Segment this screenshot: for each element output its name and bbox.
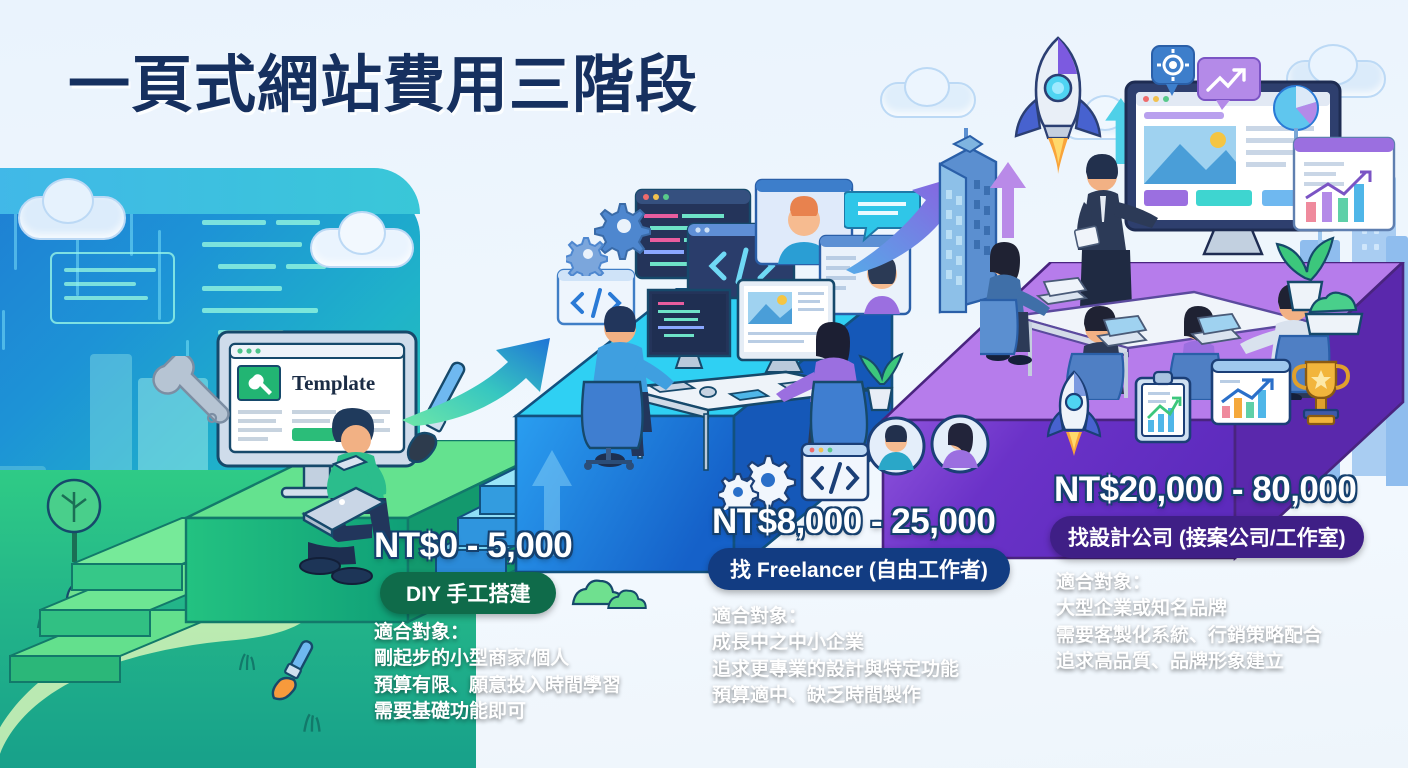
audience-agency: 適合對象： 大型企業或知名品牌 需要客製化系統、行銷策略配合 追求高品質、品牌形… [1056, 570, 1322, 676]
rocket-icon [1046, 368, 1102, 460]
price-label-agency: NT$20,000 - 80,000 [1054, 470, 1356, 510]
trophy-icon [1288, 356, 1354, 430]
audience-line: 追求更專業的設計與特定功能 [712, 657, 959, 682]
audience-heading-freelancer: 適合對象： [712, 604, 959, 629]
audience-diy: 適合對象： 剛起步的小型商家/個人 預算有限、願意投入時間學習 需要基礎功能即可 [374, 620, 621, 726]
infographic-canvas: Template [0, 0, 1408, 768]
code-window-icon [800, 442, 870, 504]
cloud-icon [310, 228, 414, 268]
audience-line: 成長中之中小企業 [712, 630, 959, 655]
audience-line: 預算有限、願意投入時間學習 [374, 673, 621, 698]
audience-line: 剛起步的小型商家/個人 [374, 646, 621, 671]
badge-freelancer: 找 Freelancer (自由工作者) [708, 548, 1010, 590]
cloud-icon [880, 82, 976, 118]
audience-line: 大型企業或知名品牌 [1056, 596, 1322, 621]
avatar-female-icon [930, 414, 990, 474]
badge-agency: 找設計公司 (接案公司/工作室) [1050, 516, 1364, 558]
audience-line: 預算適中、缺乏時間製作 [712, 683, 959, 708]
audience-heading-agency: 適合對象： [1056, 570, 1322, 595]
audience-line: 需要客製化系統、行銷策略配合 [1056, 623, 1322, 648]
avatar-male-icon [866, 416, 926, 476]
audience-line: 追求高品質、品牌形象建立 [1056, 649, 1322, 674]
cloud-icon [18, 196, 126, 240]
svg-text:Template: Template [292, 371, 375, 395]
audience-freelancer: 適合對象： 成長中之中小企業 追求更專業的設計與特定功能 預算適中、缺乏時間製作 [712, 604, 959, 710]
audience-line: 需要基礎功能即可 [374, 699, 621, 724]
clipboard-chart-icon [1132, 370, 1194, 446]
growth-chart-icon [1210, 358, 1292, 430]
page-title: 一頁式網站費用三階段 [68, 34, 698, 124]
price-label-diy: NT$0 - 5,000 [374, 526, 572, 566]
audience-heading-diy: 適合對象： [374, 620, 621, 645]
price-label-freelancer: NT$8,000 - 25,000 [712, 502, 995, 542]
badge-diy: DIY 手工搭建 [380, 572, 556, 614]
grass-tuft [300, 712, 326, 734]
gear-icon [718, 450, 798, 510]
